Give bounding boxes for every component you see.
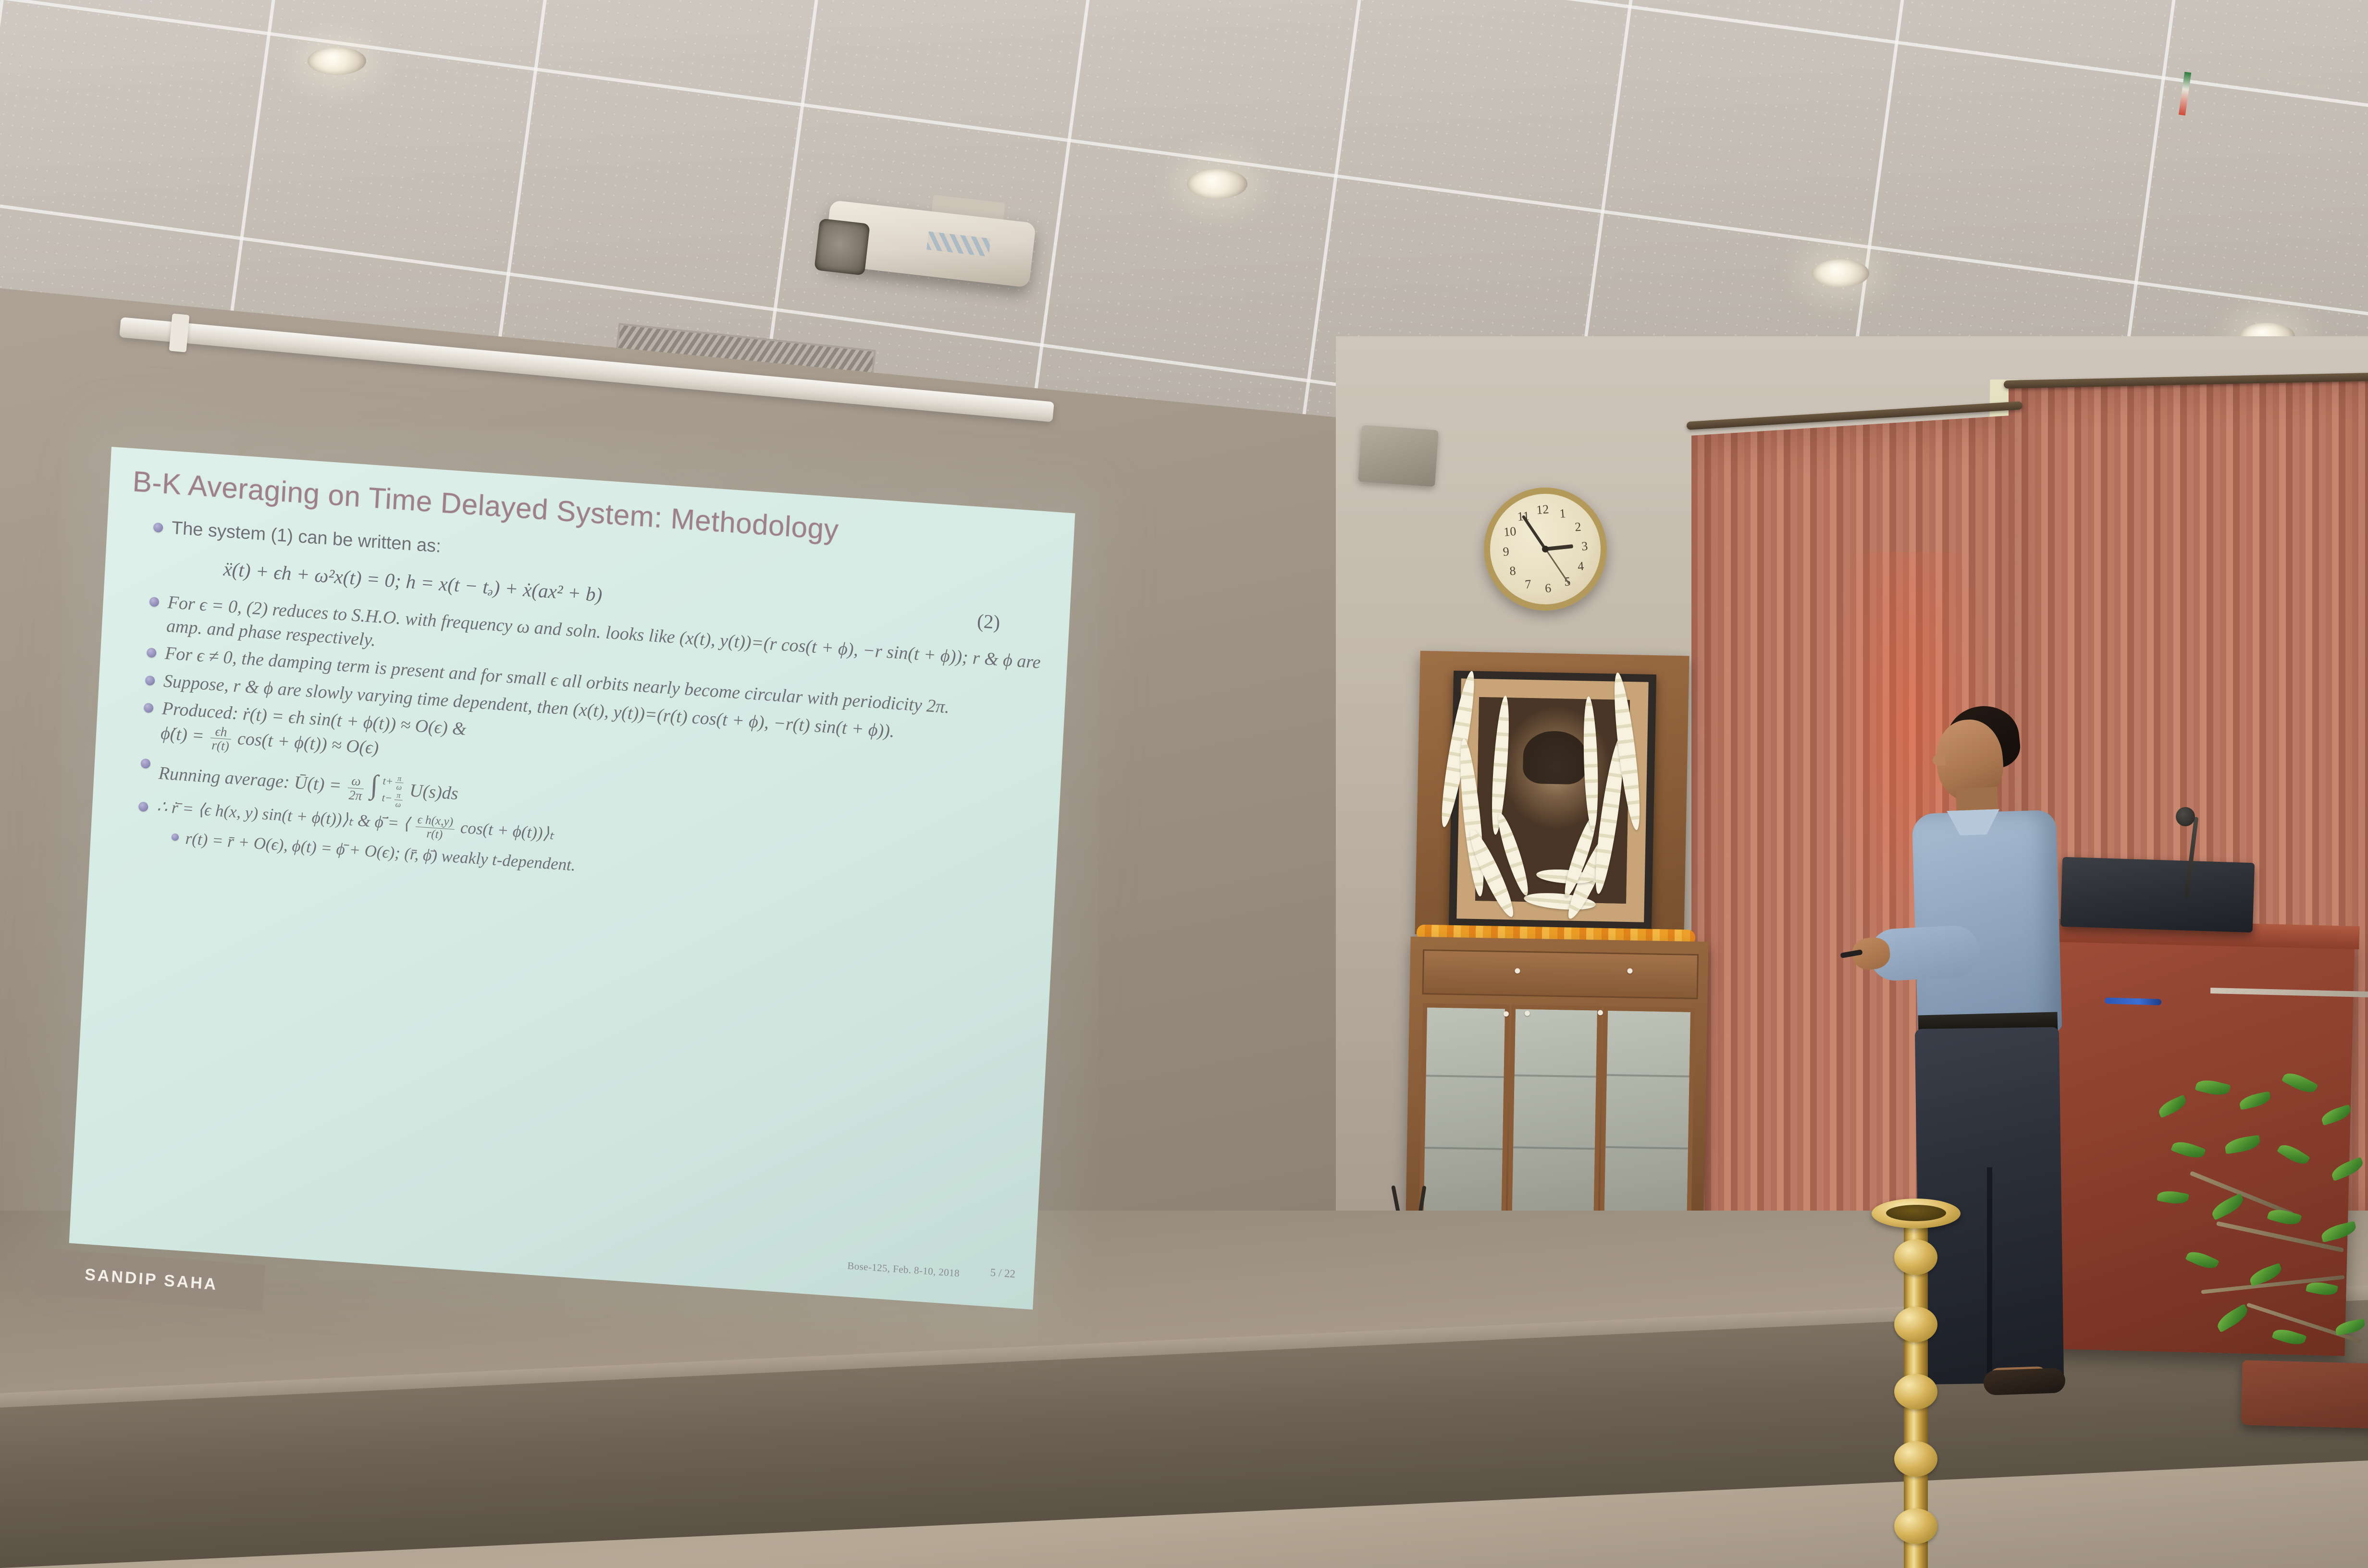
integral-sign: ∫ <box>370 770 379 800</box>
fraction-denominator: ω <box>394 800 402 808</box>
fraction-numerator: ω <box>348 774 365 789</box>
fraction-numerator: π <box>394 791 403 800</box>
integral-upper-base: t+ <box>382 775 394 787</box>
cabinet-shelf <box>1426 1075 1504 1078</box>
running-average-lhs: Ū(t) = <box>294 772 342 796</box>
running-average-coefficient: ω 2π <box>347 774 364 803</box>
presenter-sandal <box>1983 1368 2066 1396</box>
bullet-dot <box>172 833 179 841</box>
clock-numeral: 4 <box>1572 558 1590 575</box>
integral-lower-fraction: πω <box>394 791 403 809</box>
integral-lower-base: t− <box>382 792 393 804</box>
slide-page-number: 5 / 22 <box>990 1266 1016 1281</box>
fraction-denominator: r(t) <box>210 738 231 754</box>
integral-limits: t+πω t−πω <box>382 773 406 808</box>
integral-upper-limit: t+πω <box>382 773 406 792</box>
clock-numeral: 7 <box>1519 576 1537 593</box>
brass-lamp-bead <box>1894 1441 1937 1477</box>
clock-numeral: 9 <box>1497 543 1515 561</box>
presenter-shirt <box>1912 810 2062 1035</box>
ceiling-downlight <box>308 47 366 75</box>
ceiling-downlight <box>1187 169 1247 199</box>
cabinet-shelf <box>1513 1146 1595 1150</box>
portrait-frame <box>1449 671 1656 930</box>
fraction-denominator: ω <box>395 783 403 791</box>
bullet-dot <box>144 703 154 713</box>
cabinet-shelf <box>1605 1146 1688 1150</box>
portrait-hair <box>1523 731 1587 785</box>
clock-numeral: 8 <box>1504 563 1521 580</box>
clock-numeral: 12 <box>1534 501 1551 518</box>
wall-speaker <box>1358 425 1439 487</box>
clock-numeral: 2 <box>1569 518 1587 536</box>
brass-lamp-bead <box>1894 1508 1937 1544</box>
integral-lower-limit: t−πω <box>382 790 405 809</box>
cabinet-shelf <box>1607 1074 1690 1078</box>
clock-hour-hand <box>1545 544 1574 551</box>
presenter-leg-separation <box>1987 1167 1992 1379</box>
produced-line2-suffix: cos(t + ϕ(t)) ≈ O(ϵ) <box>237 728 379 758</box>
running-average-rhs: U(s)ds <box>409 780 458 804</box>
brass-lamp-bead <box>1894 1307 1937 1342</box>
tube-light-bracket <box>169 314 190 353</box>
bullet-dot <box>153 522 163 532</box>
projection-screen: B-K Averaging on Time Delayed System: Me… <box>69 447 1075 1310</box>
brass-lamp-bead <box>1894 1239 1937 1275</box>
portrait-mat <box>1456 678 1649 922</box>
cabinet-shelf <box>1425 1147 1503 1150</box>
fraction-numerator: ϵh <box>210 724 232 740</box>
bullet-dot <box>145 675 155 686</box>
integral-upper-fraction: πω <box>395 774 404 792</box>
slide: B-K Averaging on Time Delayed System: Me… <box>69 447 1075 1310</box>
projector-lens <box>814 218 870 275</box>
microphone-icon <box>2176 807 2195 826</box>
equation-number: (2) <box>976 608 1001 636</box>
cabinet-shelf <box>1515 1074 1596 1078</box>
running-average-label: Running average: <box>158 763 290 792</box>
bullet-dot <box>138 801 148 811</box>
bullet-dot <box>147 648 157 658</box>
potted-plant-foliage <box>2129 1071 2368 1398</box>
bullet-dot <box>141 759 151 769</box>
wooden-cabinet <box>1405 937 1708 1249</box>
clock-numeral: 10 <box>1501 523 1518 540</box>
clock-numeral: 3 <box>1576 538 1593 555</box>
produced-fraction: ϵh r(t) <box>210 724 232 753</box>
fraction-denominator: r(t) <box>415 827 455 842</box>
clock-numeral: 6 <box>1540 580 1557 597</box>
bullet-dot <box>149 597 159 607</box>
clock-numeral: 1 <box>1554 505 1571 522</box>
lecture-hall-photo: 12 1 2 3 4 5 6 7 8 9 10 11 <box>0 0 2368 1568</box>
produced-line2-prefix: ϕ̇(t) = <box>160 723 205 746</box>
slide-body: The system (1) can be written as: ẍ(t) +… <box>136 515 1060 908</box>
fraction-denominator: 2π <box>347 788 364 803</box>
slide-footer-conference: Bose-125, Feb. 8-10, 2018 <box>847 1260 960 1279</box>
brass-lamp-wick-bowl <box>1886 1205 1946 1221</box>
final-line-a-tail: cos(t + ϕ(t))⟩ₜ <box>460 818 555 843</box>
cabinet-drawer[interactable] <box>1422 949 1699 999</box>
cabinet-door-knob[interactable] <box>1598 1010 1603 1015</box>
cabinet-door[interactable] <box>1507 1004 1602 1224</box>
cabinet-door[interactable] <box>1419 1003 1509 1223</box>
laptop[interactable] <box>2060 857 2255 932</box>
cabinet-door[interactable] <box>1600 1006 1695 1226</box>
ceiling-downlight <box>1812 259 1869 287</box>
plant-pot <box>2241 1360 2368 1429</box>
portrait-photo <box>1475 697 1630 904</box>
brass-lamp-bead <box>1894 1374 1937 1409</box>
clock-minute-hand <box>1522 515 1547 550</box>
final-line-fraction: ϵ h(x,y) r(t) <box>415 814 455 842</box>
